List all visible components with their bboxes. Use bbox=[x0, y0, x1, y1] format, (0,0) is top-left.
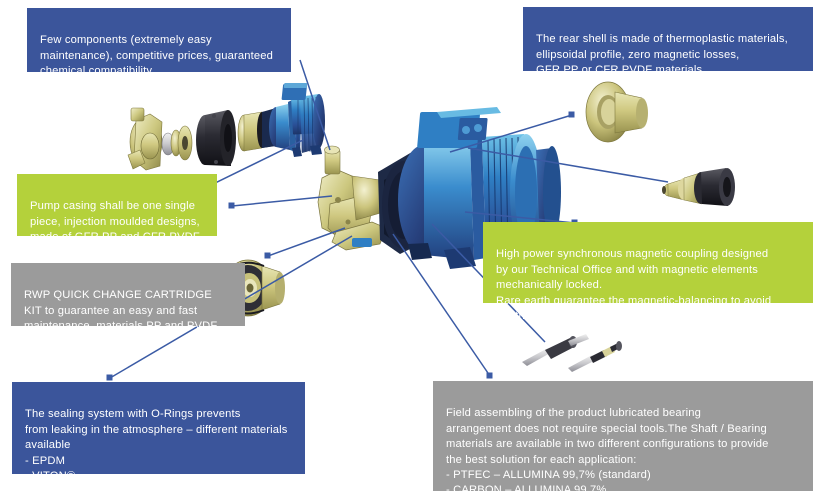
part-impeller bbox=[162, 126, 192, 160]
callout-text: High power synchronous magnetic coupling… bbox=[496, 248, 771, 322]
callout-text: The rear shell is made of thermoplastic … bbox=[536, 33, 788, 76]
callout-magnetic-coupling: High power synchronous magnetic coupling… bbox=[483, 222, 813, 303]
part-motor-blue bbox=[262, 83, 325, 157]
callout-few-components: Few components (extremely easy maintenan… bbox=[27, 8, 291, 72]
exploded-pump-assembly bbox=[128, 83, 325, 170]
callout-rear-shell: The rear shell is made of thermoplastic … bbox=[523, 7, 813, 71]
part-magnetic-coupling-detail bbox=[662, 168, 735, 206]
callout-pump-casing: Pump casing shall be one single piece, i… bbox=[17, 174, 217, 236]
part-pump-casing-brass bbox=[128, 108, 162, 170]
callout-quick-change-cartridge: RWP QUICK CHANGE CARTRIDGE KIT to guaran… bbox=[11, 263, 245, 326]
part-rear-shell-black bbox=[196, 110, 236, 166]
part-rear-shell-detail bbox=[586, 82, 648, 142]
callout-sealing-system: The sealing system with O-Rings prevents… bbox=[12, 382, 305, 474]
callout-text: RWP QUICK CHANGE CARTRIDGE KIT to guaran… bbox=[24, 289, 217, 332]
callout-text: The sealing system with O-Rings prevents… bbox=[25, 408, 288, 482]
callout-text: Pump casing shall be one single piece, i… bbox=[30, 200, 202, 243]
callout-text: Few components (extremely easy maintenan… bbox=[40, 34, 273, 77]
callout-text: Field assembling of the product lubricat… bbox=[446, 407, 769, 496]
part-shaft-bearing-detail bbox=[522, 334, 622, 372]
diagram-canvas: Few components (extremely easy maintenan… bbox=[0, 0, 813, 500]
callout-field-assembling: Field assembling of the product lubricat… bbox=[433, 381, 813, 491]
